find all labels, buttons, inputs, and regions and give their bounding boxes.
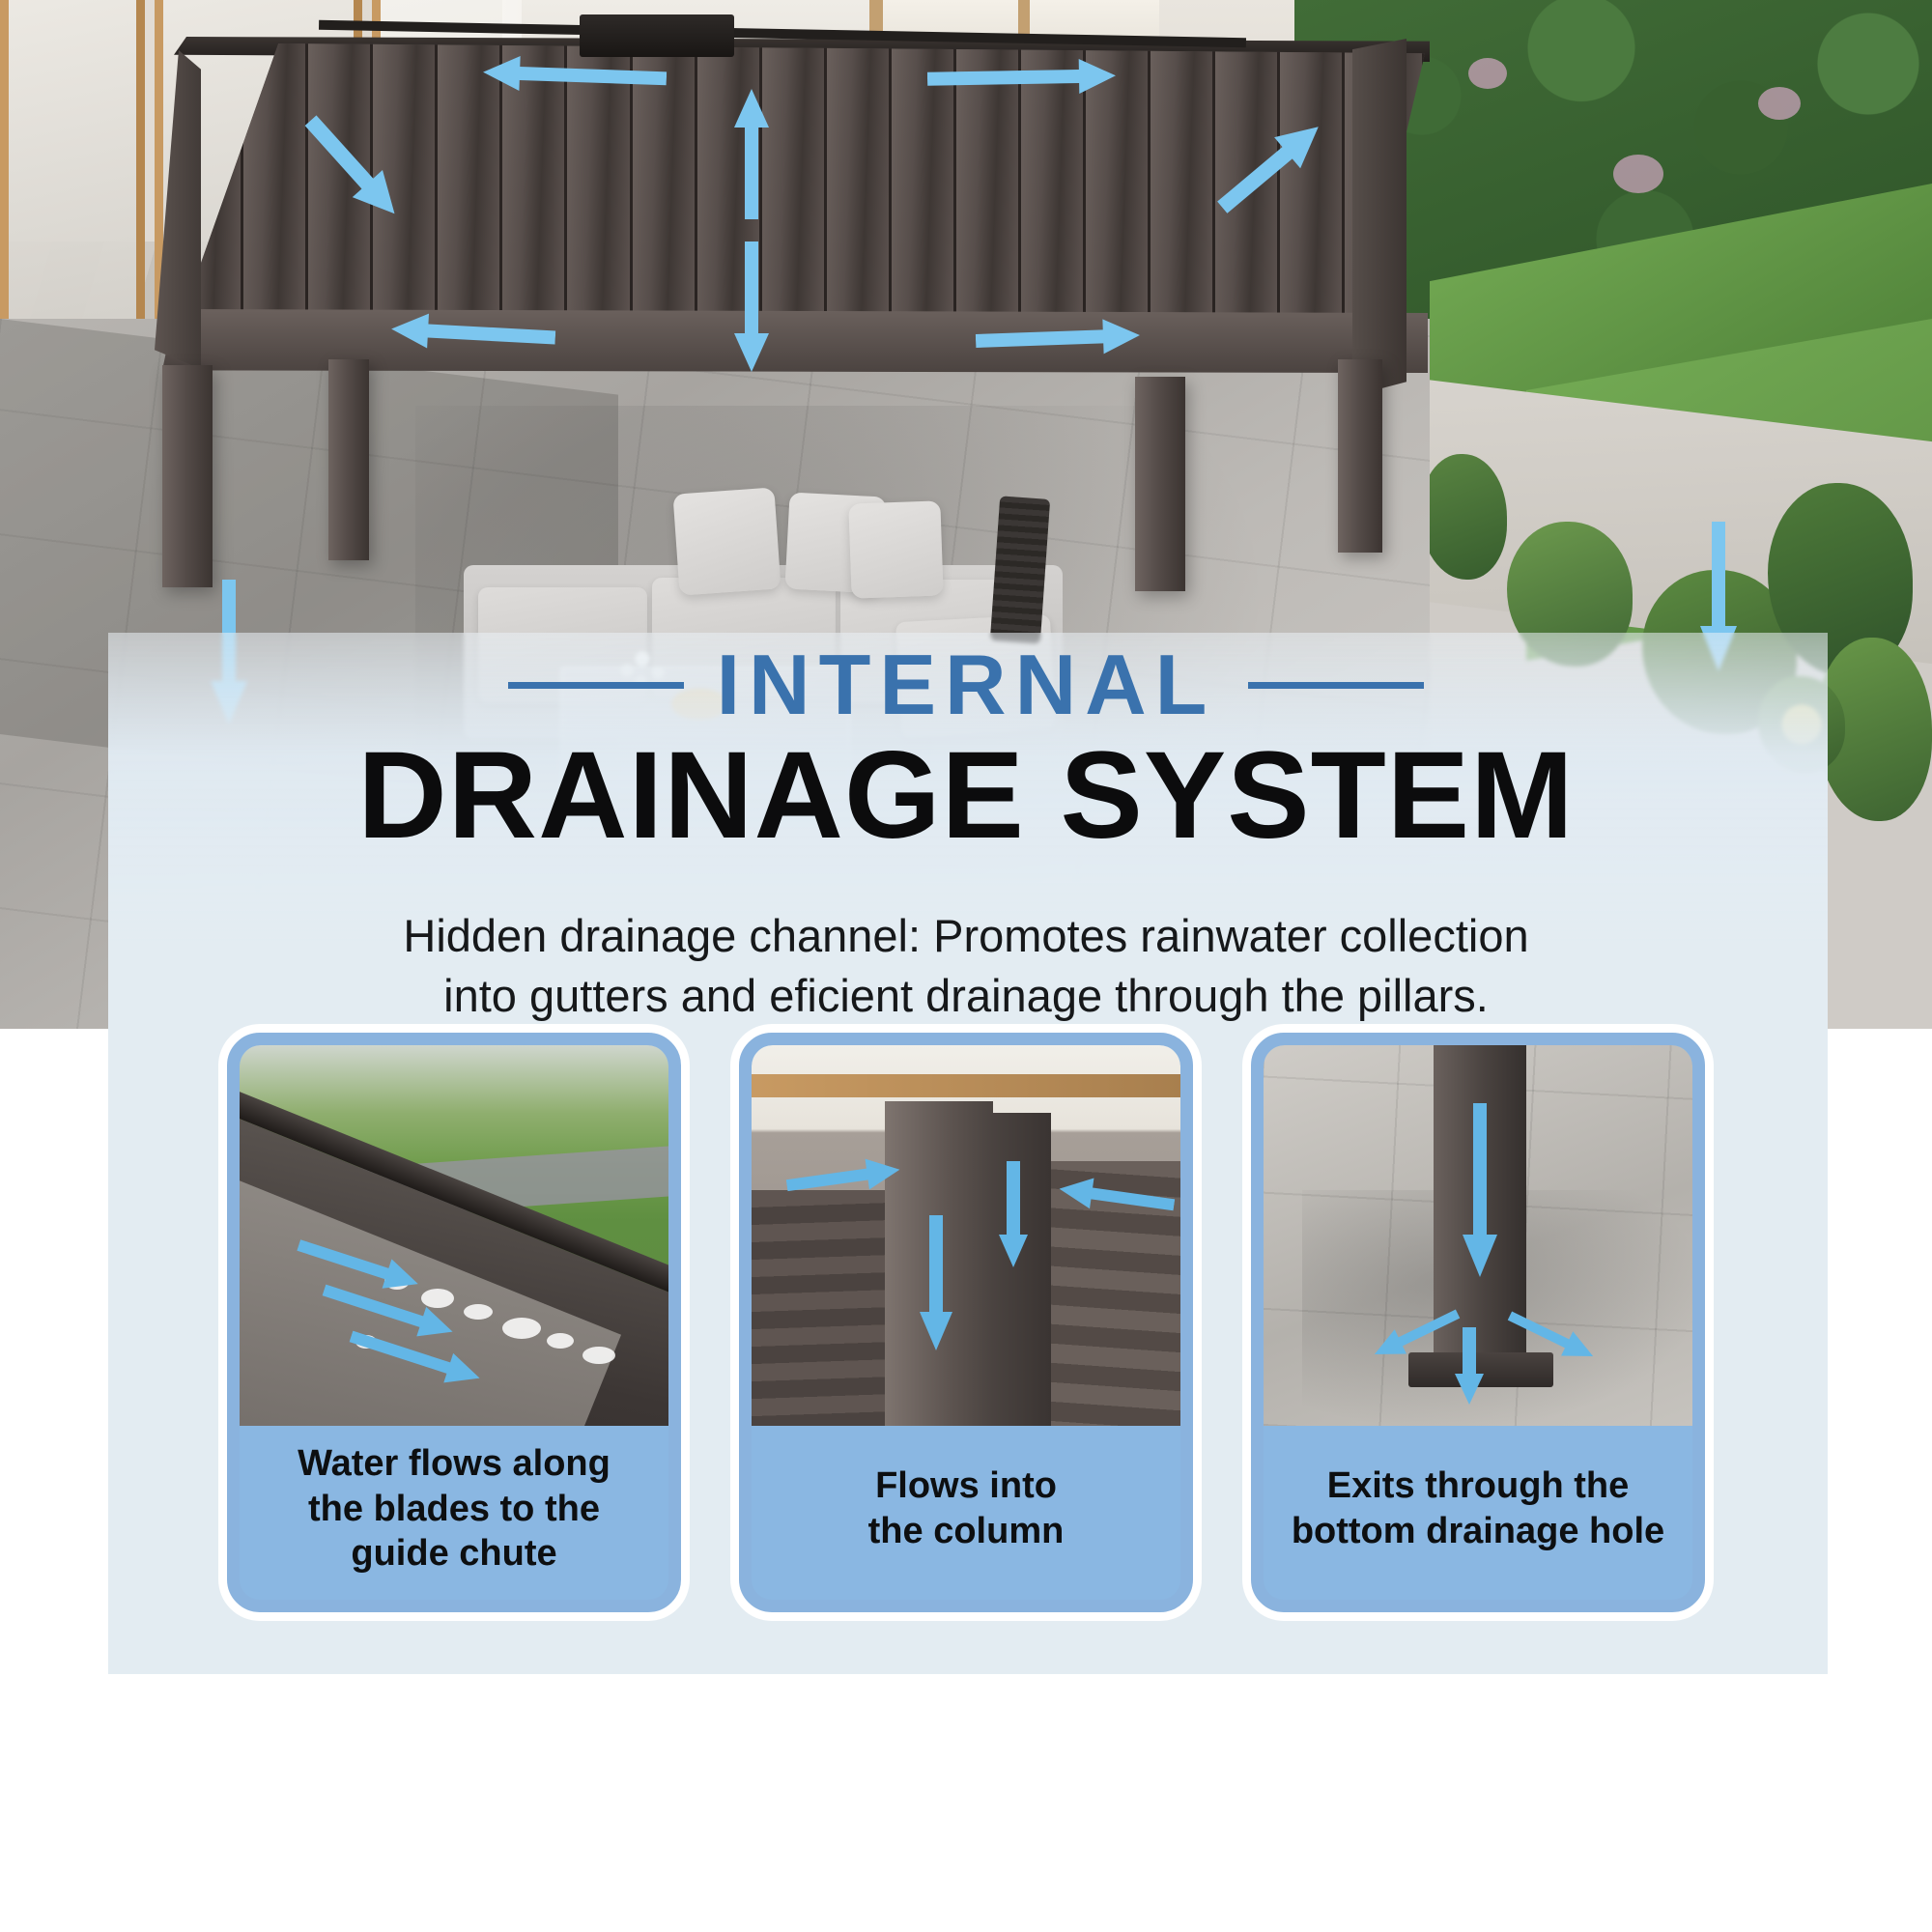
card-caption-gutter: Water flows along the blades to the guid… [240,1426,668,1600]
roof-arrow-center-down-icon [732,241,771,372]
card3-line-2: bottom drainage hole [1292,1511,1664,1551]
pergola-motor-housing [580,14,734,57]
subtitle-line-2: into gutters and eficient drainage throu… [443,970,1489,1021]
card2-arrow-down-icon [918,1215,954,1350]
card1-line-1: Water flows along [298,1443,611,1484]
roof-arrow-top-right-icon [927,56,1117,98]
pergola-post [1338,359,1382,553]
eyebrow-row: INTERNAL [0,642,1932,727]
card2-line-2: the column [868,1511,1065,1551]
feature-card-column[interactable]: Flows into the column [739,1033,1193,1612]
pergola-post [162,365,213,587]
card3-arrow-down-icon [1461,1103,1499,1277]
content-section: INTERNAL DRAINAGE SYSTEM Hidden drainage… [0,1029,1932,1932]
title-block: INTERNAL DRAINAGE SYSTEM Hidden drainage… [0,642,1932,1026]
feature-card-gutter[interactable]: Water flows along the blades to the guid… [227,1033,681,1612]
pergola-post [1135,377,1185,591]
card-caption-drain-hole: Exits through the bottom drainage hole [1264,1426,1692,1600]
subtitle: Hidden drainage channel: Promotes rainwa… [0,906,1932,1026]
roof-arrow-mid-right-icon [975,316,1140,360]
card1-line-2: the blades to the [308,1489,600,1529]
card-photo-drain-hole [1264,1045,1692,1426]
sofa-pillow [848,500,943,598]
eyebrow-rule-right [1248,682,1424,689]
card-photo-column [752,1045,1180,1426]
eyebrow-rule-left [508,682,684,689]
pergola-post [328,359,369,560]
sofa-armrest [990,496,1050,643]
feature-cards: Water flows along the blades to the guid… [0,1033,1932,1612]
card1-line-3: guide chute [351,1533,556,1574]
card2-line-1: Flows into [875,1465,1057,1506]
card-photo-gutter [240,1045,668,1426]
card2-arrow-down-2-icon [997,1161,1030,1267]
card-caption-column: Flows into the column [752,1426,1180,1600]
subtitle-line-1: Hidden drainage channel: Promotes rainwa… [403,910,1528,961]
eyebrow-text: INTERNAL [717,642,1216,727]
sofa-pillow [672,487,781,595]
roof-arrow-center-up-icon [732,89,771,219]
feature-card-drain-hole[interactable]: Exits through the bottom drainage hole [1251,1033,1705,1612]
card3-line-1: Exits through the [1327,1465,1629,1506]
card3-arrow-out-down-icon [1453,1327,1486,1405]
pergola-right-beam [1352,39,1406,396]
page-title: DRAINAGE SYSTEM [0,733,1932,860]
roof-arrow-top-left-icon [482,53,667,99]
